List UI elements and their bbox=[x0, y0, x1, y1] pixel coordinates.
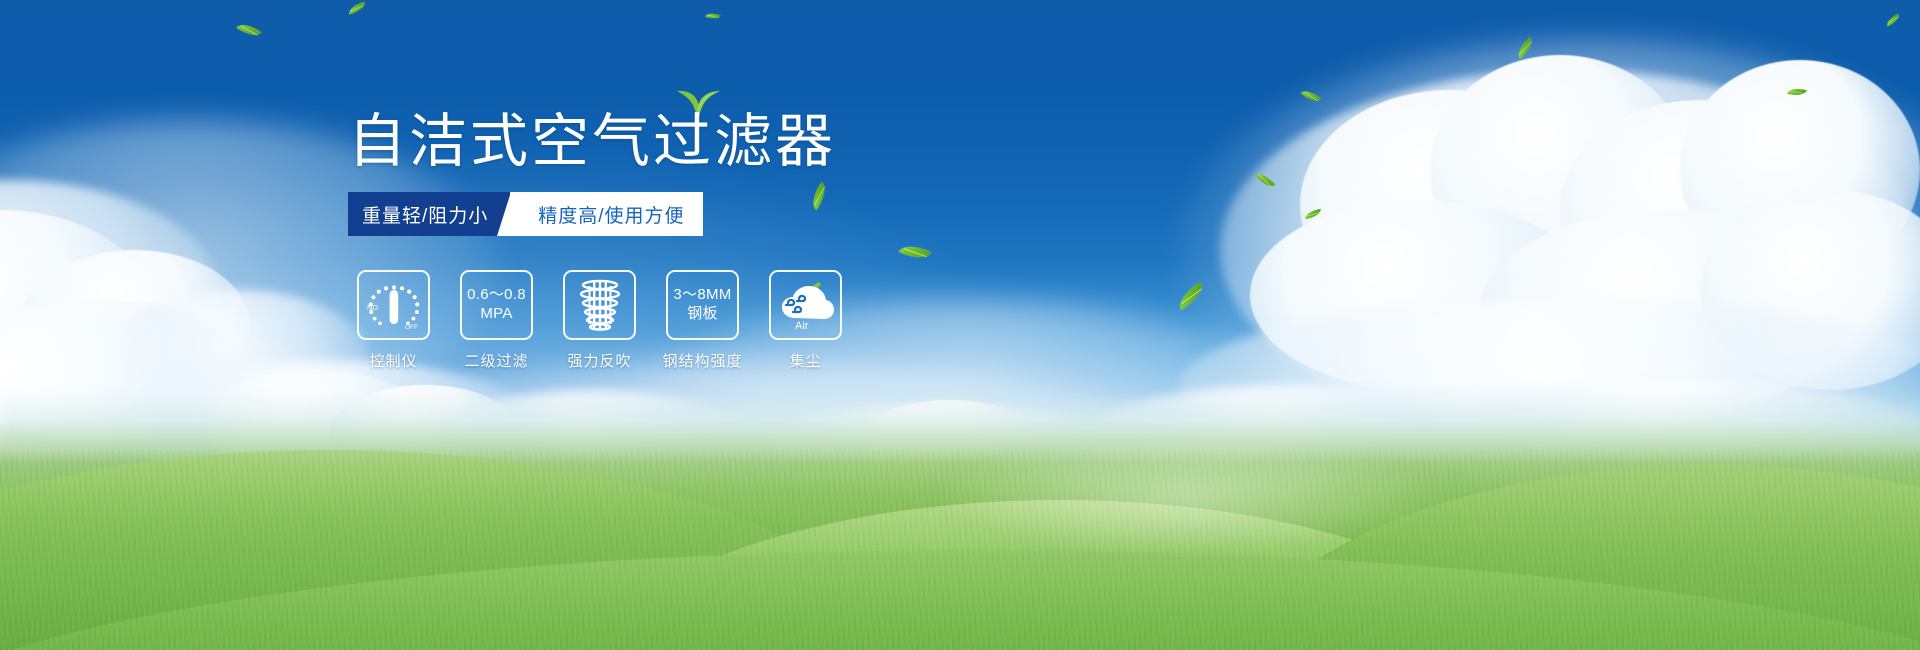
feature-box: 0.6～0.8 MPA bbox=[460, 270, 533, 340]
feature-box bbox=[563, 270, 636, 340]
feature-label: 二级过滤 bbox=[464, 350, 528, 371]
steel-plate-icon: 3～8MM 钢板 bbox=[673, 286, 731, 324]
steel-material: 钢板 bbox=[673, 305, 731, 324]
air-label: Air bbox=[795, 320, 809, 332]
tag-label: 精度高/使用方便 bbox=[538, 201, 684, 228]
feature-label: 控制仪 bbox=[369, 350, 417, 371]
banner-content: 自洁式空气过滤器 重量轻/阻力小 精度高/使用方便 bbox=[0, 0, 1920, 650]
feature-list: NO OFF 控制仪 0.6～0.8 MPA 二级过滤 bbox=[357, 270, 842, 371]
hero-banner: 自洁式空气过滤器 重量轻/阻力小 精度高/使用方便 bbox=[0, 0, 1920, 650]
blowback-coil-icon bbox=[572, 277, 628, 333]
page-title: 自洁式空气过滤器 bbox=[348, 112, 836, 173]
steel-thickness: 3～8MM bbox=[673, 286, 731, 305]
feature-label: 强力反吹 bbox=[567, 350, 631, 371]
pressure-text-icon: 0.6～0.8 MPA bbox=[467, 286, 526, 324]
feature-box: Air bbox=[769, 270, 842, 340]
tagline-strip: 重量轻/阻力小 精度高/使用方便 bbox=[348, 192, 703, 236]
svg-text:NO: NO bbox=[367, 303, 378, 312]
pressure-unit: MPA bbox=[467, 305, 526, 324]
feature-dust[interactable]: Air 集尘 bbox=[769, 270, 842, 371]
air-cloud-icon: Air bbox=[775, 278, 837, 332]
tag-weight-resistance[interactable]: 重量轻/阻力小 bbox=[348, 192, 510, 236]
feature-label: 集尘 bbox=[789, 350, 821, 371]
feature-box: 3～8MM 钢板 bbox=[666, 270, 739, 340]
gauge-switch-icon: NO OFF bbox=[364, 277, 424, 333]
pressure-range: 0.6～0.8 bbox=[467, 286, 526, 305]
feature-box: NO OFF bbox=[357, 270, 430, 340]
feature-controller[interactable]: NO OFF 控制仪 bbox=[357, 270, 430, 371]
feature-blowback[interactable]: 强力反吹 bbox=[563, 270, 636, 371]
feature-label: 钢结构强度 bbox=[663, 350, 743, 371]
tag-label: 重量轻/阻力小 bbox=[362, 201, 488, 228]
feature-steel[interactable]: 3～8MM 钢板 钢结构强度 bbox=[666, 270, 739, 371]
tag-precision-convenience[interactable]: 精度高/使用方便 bbox=[510, 192, 702, 236]
svg-text:OFF: OFF bbox=[405, 324, 418, 331]
feature-pressure[interactable]: 0.6～0.8 MPA 二级过滤 bbox=[460, 270, 533, 371]
